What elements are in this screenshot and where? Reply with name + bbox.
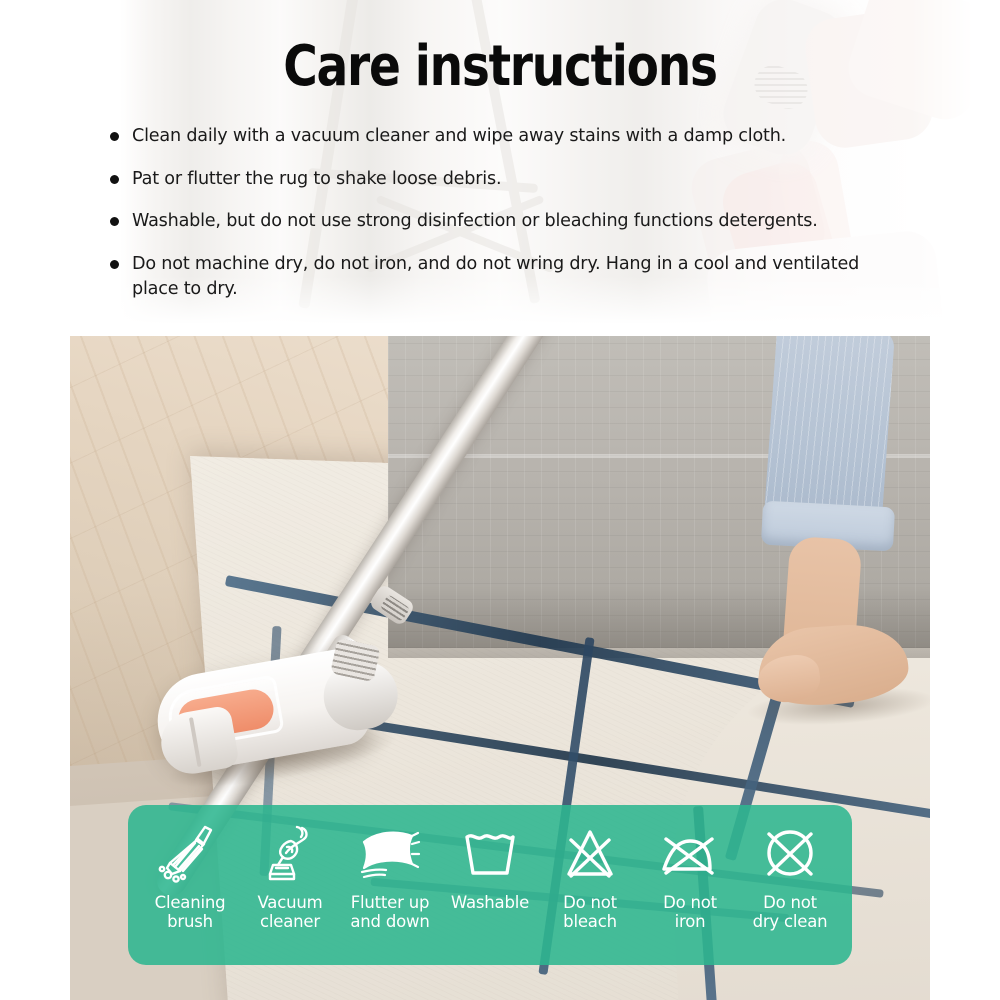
header-section: Care instructions Clean daily with a vac… bbox=[0, 0, 1000, 336]
care-item-label: Washable bbox=[451, 893, 529, 912]
care-item-do-not-bleach: Do not bleach bbox=[540, 821, 640, 932]
list-item: Pat or flutter the rug to shake loose de… bbox=[110, 167, 900, 193]
care-item-label: Cleaning brush bbox=[155, 893, 226, 932]
care-item-washable: Washable bbox=[440, 821, 540, 912]
instruction-text: Pat or flutter the rug to shake loose de… bbox=[132, 169, 501, 189]
care-item-do-not-dry-clean: Do not dry clean bbox=[740, 821, 840, 932]
list-item: Washable, but do not use strong disinfec… bbox=[110, 209, 900, 235]
care-item-cleaning-brush: Cleaning brush bbox=[140, 821, 240, 932]
care-symbol-panel: Cleaning brush Vacuum cleaner bbox=[128, 805, 852, 965]
care-item-label: Do not bleach bbox=[563, 893, 617, 932]
instruction-text: Do not machine dry, do not iron, and do … bbox=[132, 254, 859, 300]
bullet-dot-icon bbox=[110, 175, 119, 184]
list-item: Clean daily with a vacuum cleaner and wi… bbox=[110, 124, 900, 150]
washable-icon bbox=[455, 821, 525, 887]
care-item-label: Do not dry clean bbox=[753, 893, 828, 932]
cleaning-brush-icon bbox=[155, 821, 225, 887]
care-item-label: Vacuum cleaner bbox=[258, 893, 323, 932]
bullet-dot-icon bbox=[110, 217, 119, 226]
flutter-up-and-down-icon bbox=[355, 821, 425, 887]
care-item-label: Do not iron bbox=[663, 893, 717, 932]
care-item-flutter: Flutter up and down bbox=[340, 821, 440, 932]
page-title: Care instructions bbox=[80, 38, 920, 97]
care-instructions-page: Care instructions Clean daily with a vac… bbox=[0, 0, 1000, 1000]
care-item-label: Flutter up and down bbox=[350, 893, 429, 932]
vacuum-cleaner-icon bbox=[255, 821, 325, 887]
do-not-dry-clean-icon bbox=[755, 821, 825, 887]
bullet-dot-icon bbox=[110, 260, 119, 269]
list-item: Do not machine dry, do not iron, and do … bbox=[110, 252, 900, 303]
bullet-dot-icon bbox=[110, 132, 119, 141]
instruction-text: Clean daily with a vacuum cleaner and wi… bbox=[132, 126, 786, 146]
instruction-list: Clean daily with a vacuum cleaner and wi… bbox=[110, 124, 900, 303]
instruction-text: Washable, but do not use strong disinfec… bbox=[132, 211, 818, 231]
do-not-bleach-icon bbox=[555, 821, 625, 887]
care-item-vacuum-cleaner: Vacuum cleaner bbox=[240, 821, 340, 932]
care-item-do-not-iron: Do not iron bbox=[640, 821, 740, 932]
do-not-iron-icon bbox=[655, 821, 725, 887]
